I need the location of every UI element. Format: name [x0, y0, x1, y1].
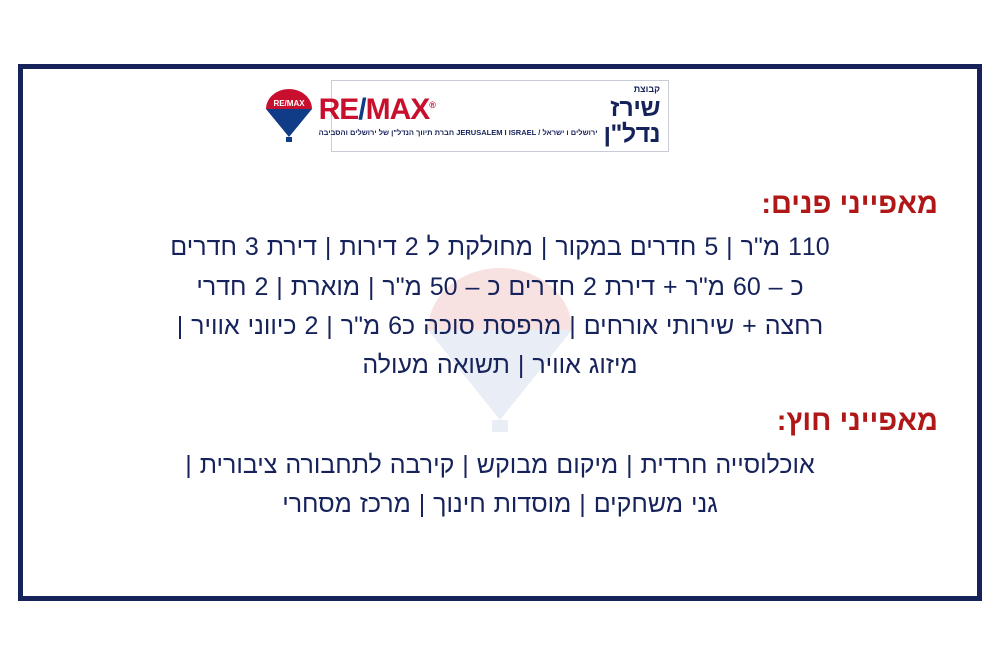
property-features-page: RE/MAX קבוצת שירז נדל"ן RE/MAX® ירושלים … [0, 0, 1000, 667]
logo-hebrew-block: קבוצת שירז נדל"ן [603, 85, 660, 147]
logo-max-text: MAX [366, 93, 430, 126]
logo-kvutzat-label: קבוצת [634, 85, 660, 94]
exterior-line-1: אוכלוסייה חרדית | מיקום מבוקש | קירבה לת… [52, 446, 948, 485]
interior-line-3: רחצה + שירותי אורחים | מרפסת סוכה כ6 מ"ר… [52, 307, 948, 346]
logo-slash-text: / [358, 93, 365, 126]
remax-shiraz-logo: קבוצת שירז נדל"ן RE/MAX® ירושלים ו ישראל… [331, 80, 669, 152]
exterior-line-2: גני משחקים | מוסדות חינוך | מרכז מסחרי [52, 485, 948, 524]
interior-features-heading: מאפייני פנים: [52, 186, 948, 222]
interior-line-2: כ – 60 מ"ר + דירת 2 חדרים כ – 50 מ"ר | מ… [52, 268, 948, 307]
logo-remax-wordmark: RE/MAX® [319, 95, 435, 125]
page-content: קבוצת שירז נדל"ן RE/MAX® ירושלים ו ישראל… [22, 68, 978, 597]
logo-remax-block: RE/MAX® ירושלים ו ישראל / JERUSALEM I IS… [319, 95, 598, 137]
interior-line-1: 110 מ"ר | 5 חדרים במקור | מחולקת ל 2 דיר… [52, 228, 948, 267]
logo-tagline: ירושלים ו ישראל / JERUSALEM I ISRAEL חבר… [319, 128, 598, 137]
logo-re-text: RE [319, 93, 359, 126]
exterior-features-heading: מאפייני חוץ: [52, 403, 948, 439]
interior-features-body: 110 מ"ר | 5 חדרים במקור | מחולקת ל 2 דיר… [52, 228, 948, 385]
exterior-features-body: אוכלוסייה חרדית | מיקום מבוקש | קירבה לת… [52, 446, 948, 525]
section-interior-features: מאפייני פנים: 110 מ"ר | 5 חדרים במקור | … [22, 186, 978, 385]
balloon-label-text: RE/MAX [273, 99, 305, 108]
section-exterior-features: מאפייני חוץ: אוכלוסייה חרדית | מיקום מבו… [22, 403, 978, 524]
logo-company-name: שירז נדל"ן [603, 95, 660, 147]
remax-balloon-icon: RE/MAX [263, 87, 315, 145]
interior-line-4: מיזוג אוויר | תשואה מעולה [52, 346, 948, 385]
logo-registered-icon: ® [429, 100, 435, 110]
